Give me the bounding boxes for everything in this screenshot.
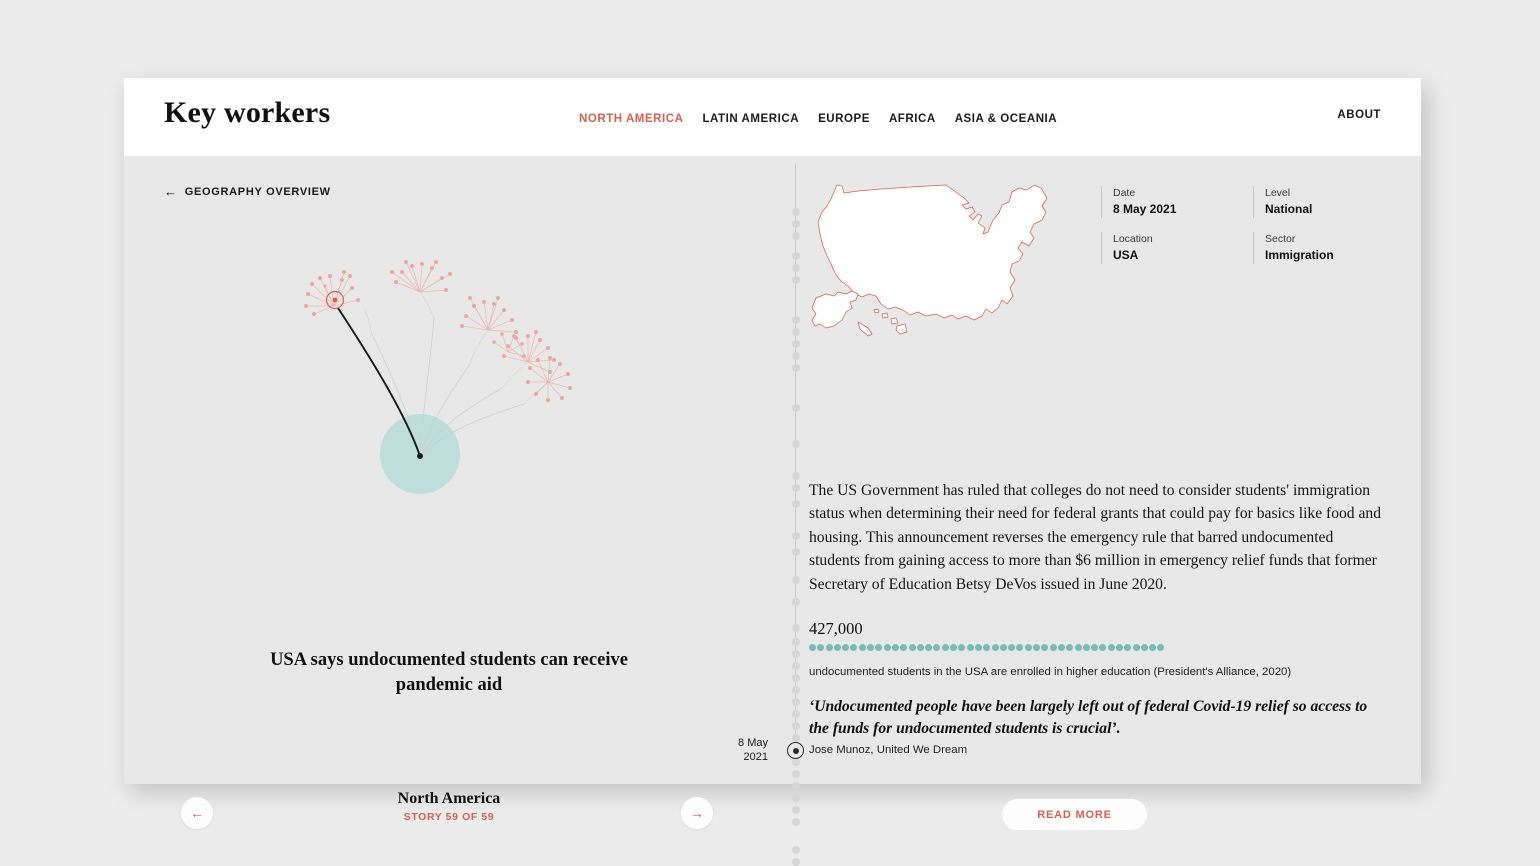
hawaii-outline: [874, 309, 907, 334]
stat-dot: [925, 644, 932, 651]
timeline-dot[interactable]: [792, 328, 800, 336]
nav-item-about[interactable]: ABOUT: [1337, 109, 1381, 121]
read-more-button[interactable]: READ MORE: [1002, 799, 1147, 830]
stat-dot: [1099, 644, 1106, 651]
timeline-dot[interactable]: [792, 650, 800, 658]
timeline-dot[interactable]: [792, 352, 800, 360]
stat-dot: [1025, 644, 1032, 651]
primary-nav: NORTH AMERICA LATIN AMERICA EUROPE AFRIC…: [579, 109, 1076, 129]
stat-dot: [1041, 644, 1048, 651]
region-name: North America: [319, 790, 579, 808]
stat-dot: [1149, 644, 1156, 651]
dandelion-story-graph[interactable]: [302, 256, 592, 516]
timeline-current-date: 8 May 2021: [698, 736, 768, 765]
page-body: ← GEOGRAPHY OVERVIEW: [124, 156, 1421, 784]
stat-dot: [1066, 644, 1073, 651]
site-header: Key workers NORTH AMERICA LATIN AMERICA …: [124, 78, 1421, 156]
timeline-dot[interactable]: [792, 440, 800, 448]
stat-dot: [958, 644, 965, 651]
alaska-outline: [812, 291, 858, 328]
stat-caption: undocumented students in the USA are enr…: [809, 665, 1384, 681]
usa-map-svg: [806, 176, 1071, 346]
stat-dot: [1000, 644, 1007, 651]
previous-story-button[interactable]: ←: [181, 797, 213, 829]
stat-dot: [933, 644, 940, 651]
arrow-right-icon: →: [690, 806, 704, 820]
timeline-dot[interactable]: [792, 276, 800, 284]
stat-dot: [875, 644, 882, 651]
stat-dot: [834, 644, 841, 651]
region-indicator: North America STORY 59 OF 59: [319, 790, 579, 823]
meta-location-label: Location: [1113, 232, 1253, 247]
arrow-left-icon: ←: [190, 806, 204, 820]
stat-dot: [1083, 644, 1090, 651]
stat-dot: [1091, 644, 1098, 651]
timeline-dot[interactable]: [792, 484, 800, 492]
timeline-dot[interactable]: [792, 598, 800, 606]
stat-dot: [950, 644, 957, 651]
stat-dot: [1050, 644, 1057, 651]
timeline-dot[interactable]: [792, 734, 800, 742]
stat-dot: [1008, 644, 1015, 651]
timeline-dot[interactable]: [792, 364, 800, 372]
dandelion-svg: [302, 256, 592, 516]
timeline-date-line1: 8 May: [698, 736, 768, 750]
stat-dot: [983, 644, 990, 651]
meta-date-value: 8 May 2021: [1113, 201, 1253, 218]
timeline-dot[interactable]: [792, 758, 800, 766]
story-graph-column: USA says undocumented students can recei…: [124, 156, 764, 784]
timeline-dot[interactable]: [792, 806, 800, 814]
timeline-dot[interactable]: [792, 532, 800, 540]
selected-node-dot: [333, 298, 338, 303]
stat-dot: [1133, 644, 1140, 651]
timeline-dot[interactable]: [792, 340, 800, 348]
timeline-dot[interactable]: [792, 404, 800, 412]
timeline-dot[interactable]: [792, 638, 800, 646]
timeline-dot[interactable]: [792, 624, 800, 632]
stat-dot: [975, 644, 982, 651]
nav-item-latin-america[interactable]: LATIN AMERICA: [702, 109, 799, 129]
stat-dot: [892, 644, 899, 651]
nav-item-asia-oceania[interactable]: ASIA & OCEANIA: [955, 109, 1057, 129]
meta-sector-value: Immigration: [1265, 247, 1401, 264]
stat-dot: [1124, 644, 1131, 651]
story-detail-column: Date 8 May 2021 Level National Location …: [804, 156, 1421, 784]
meta-location: Location USA: [1101, 232, 1253, 264]
meta-sector: Sector Immigration: [1253, 232, 1401, 264]
stat-dot: [917, 644, 924, 651]
timeline-dot[interactable]: [792, 500, 800, 508]
timeline-dot[interactable]: [792, 576, 800, 584]
pull-quote: ‘Undocumented people have been largely l…: [809, 696, 1381, 739]
stat-dot: [900, 644, 907, 651]
timeline-dot[interactable]: [792, 710, 800, 718]
stat-dot: [1075, 644, 1082, 651]
timeline-dot[interactable]: [792, 846, 800, 854]
timeline-dot[interactable]: [792, 264, 800, 272]
story-headline: USA says undocumented students can recei…: [249, 648, 649, 698]
stat-dot: [942, 644, 949, 651]
stat-dot: [842, 644, 849, 651]
stat-dot: [884, 644, 891, 651]
stat-dot: [1016, 644, 1023, 651]
timeline-dot[interactable]: [792, 698, 800, 706]
meta-level-label: Level: [1265, 186, 1401, 201]
nav-item-europe[interactable]: EUROPE: [818, 109, 870, 129]
nav-item-north-america[interactable]: NORTH AMERICA: [579, 109, 683, 129]
stat-dot: [867, 644, 874, 651]
selected-base-node: [417, 453, 423, 459]
timeline-dot[interactable]: [792, 472, 800, 480]
story-metadata: Date 8 May 2021 Level National Location …: [1101, 186, 1401, 264]
story-page-card: Key workers NORTH AMERICA LATIN AMERICA …: [124, 78, 1421, 784]
nav-item-africa[interactable]: AFRICA: [889, 109, 936, 129]
story-body-text: The US Government has ruled that college…: [809, 479, 1387, 596]
stat-dot: [817, 644, 824, 651]
timeline-dot[interactable]: [792, 208, 800, 216]
timeline-dot[interactable]: [792, 722, 800, 730]
timeline-dot[interactable]: [792, 794, 800, 802]
timeline-dot[interactable]: [792, 770, 800, 778]
stat-dot: [859, 644, 866, 651]
usa-map: [806, 176, 1071, 346]
stat-dot: [809, 644, 816, 651]
stat-dot: [992, 644, 999, 651]
timeline-dot[interactable]: [792, 548, 800, 556]
timeline-dot[interactable]: [792, 686, 800, 694]
timeline-dot[interactable]: [792, 252, 800, 260]
timeline-dot[interactable]: [792, 662, 800, 670]
next-story-button[interactable]: →: [681, 797, 713, 829]
meta-sector-label: Sector: [1265, 232, 1401, 247]
stat-dot: [826, 644, 833, 651]
pull-quote-attribution: Jose Munoz, United We Dream: [809, 744, 967, 756]
timeline-dot[interactable]: [792, 316, 800, 324]
stat-dot: [1116, 644, 1123, 651]
timeline-dot[interactable]: [792, 782, 800, 790]
timeline-dot[interactable]: [792, 818, 800, 826]
stat-dot: [967, 644, 974, 651]
stat-dot: [1157, 644, 1164, 651]
timeline-current-marker[interactable]: [787, 742, 804, 759]
story-counter: STORY 59 OF 59: [319, 811, 579, 823]
stat-dot: [1141, 644, 1148, 651]
stat-dot: [909, 644, 916, 651]
timeline-date-line2: 2021: [698, 750, 768, 764]
timeline-dot[interactable]: [792, 232, 800, 240]
timeline-dot[interactable]: [792, 674, 800, 682]
timeline-dot[interactable]: [792, 858, 800, 866]
meta-location-value: USA: [1113, 247, 1253, 264]
meta-level-value: National: [1265, 201, 1401, 218]
stat-dot: [850, 644, 857, 651]
stat-dot: [1033, 644, 1040, 651]
site-logo[interactable]: Key workers: [164, 96, 330, 130]
stat-dot-bar: [809, 643, 1165, 651]
meta-level: Level National: [1253, 186, 1401, 218]
alaska-peninsula-outline: [858, 322, 872, 336]
stat-dot: [1108, 644, 1115, 651]
stat-dot: [1058, 644, 1065, 651]
meta-date: Date 8 May 2021: [1101, 186, 1253, 218]
meta-date-label: Date: [1113, 186, 1253, 201]
stat-number: 427,000: [809, 619, 863, 639]
timeline-dot[interactable]: [792, 220, 800, 228]
